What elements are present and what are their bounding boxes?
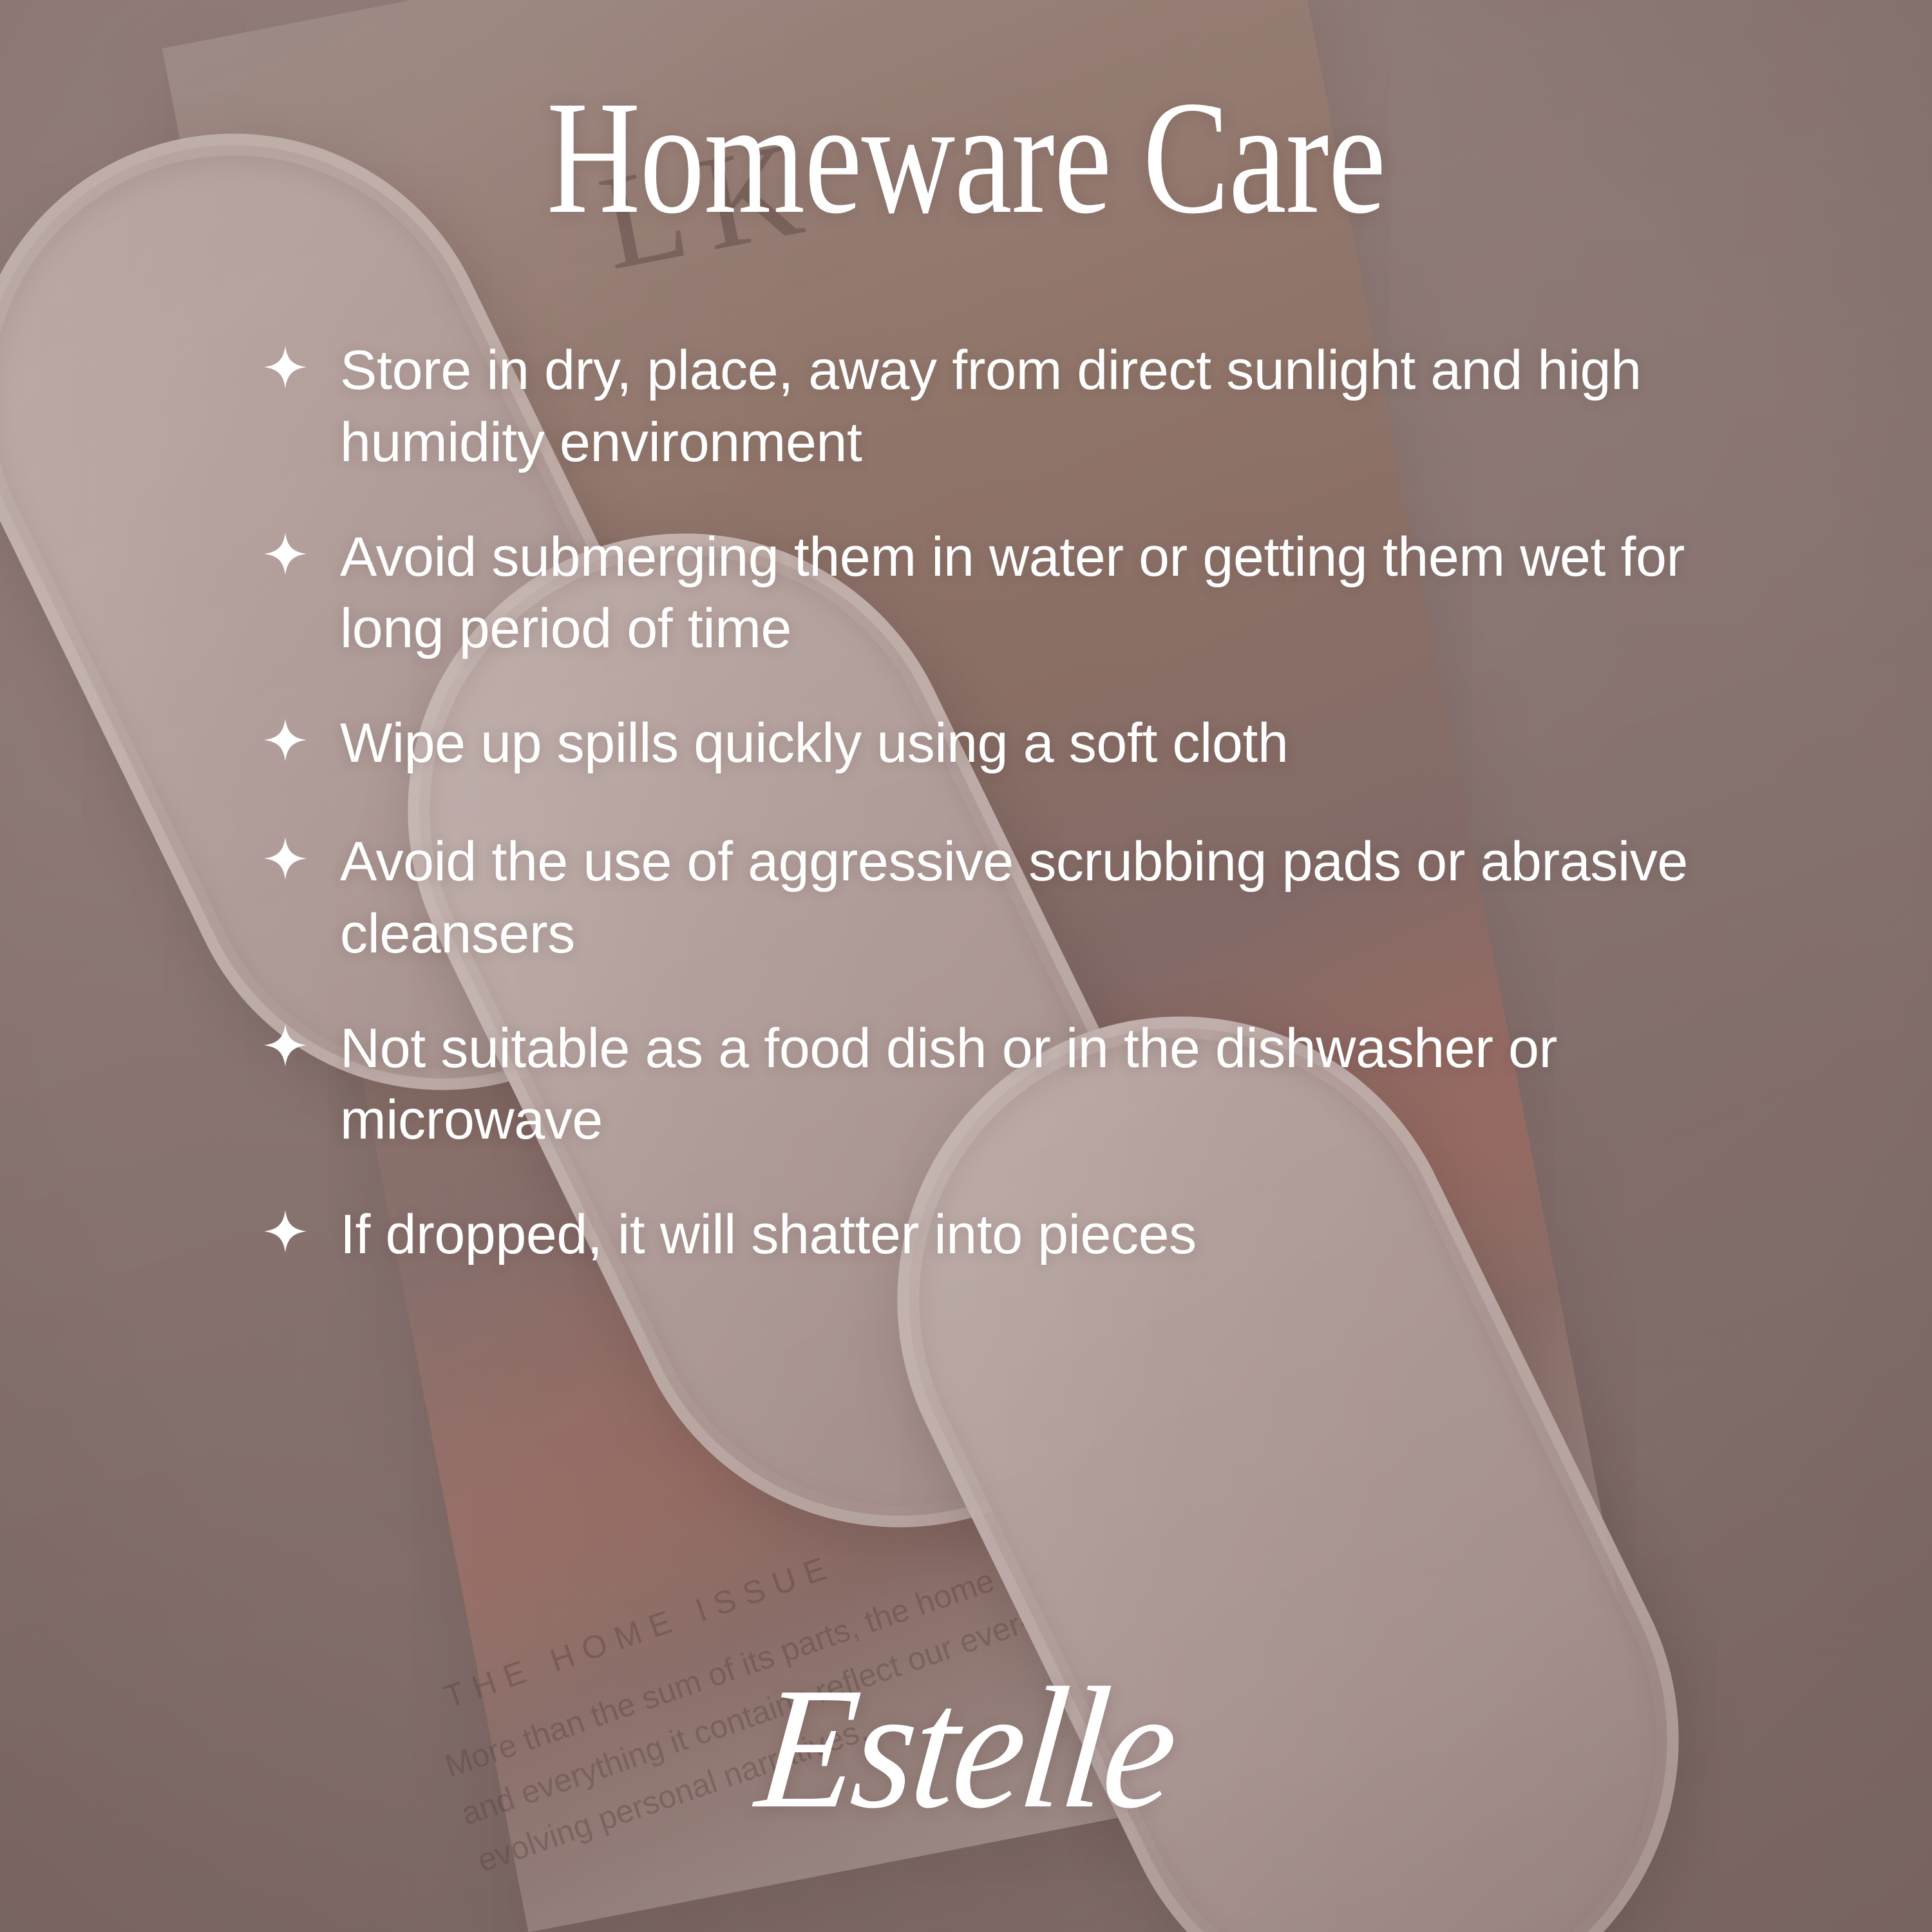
list-item-label: Wipe up spills quickly using a soft clot… xyxy=(340,708,1288,780)
page-title: Homeware Care xyxy=(193,76,1739,238)
care-instruction-list: Store in dry, place, away from direct su… xyxy=(258,335,1707,1314)
list-item: Store in dry, place, away from direct su… xyxy=(258,335,1707,479)
sparkle-icon xyxy=(258,1199,313,1261)
list-item-label: If dropped, it will shatter into pieces xyxy=(340,1199,1197,1271)
list-item: Avoid submerging them in water or gettin… xyxy=(258,522,1707,666)
brand-logo: Estelle xyxy=(0,1662,1932,1835)
sparkle-icon xyxy=(258,335,313,397)
list-item: Avoid the use of aggressive scrubbing pa… xyxy=(258,826,1707,971)
list-item: Wipe up spills quickly using a soft clot… xyxy=(258,708,1707,780)
list-item: Not suitable as a food dish or in the di… xyxy=(258,1013,1707,1157)
brand-logo-text: Estelle xyxy=(750,1662,1182,1835)
list-item-label: Avoid the use of aggressive scrubbing pa… xyxy=(340,826,1707,971)
poster-canvas: LK THE HOME ISSUE More than the sum of i… xyxy=(0,0,1932,1932)
sparkle-icon xyxy=(258,826,313,888)
list-item-label: Store in dry, place, away from direct su… xyxy=(340,335,1707,479)
list-item-label: Not suitable as a food dish or in the di… xyxy=(340,1013,1707,1157)
sparkle-icon xyxy=(258,708,313,770)
sparkle-icon xyxy=(258,1013,313,1075)
sparkle-icon xyxy=(258,522,313,583)
list-item: If dropped, it will shatter into pieces xyxy=(258,1199,1707,1271)
list-item-label: Avoid submerging them in water or gettin… xyxy=(340,522,1707,666)
poster-content: Homeware Care Store in dry, place, away … xyxy=(0,0,1932,1932)
